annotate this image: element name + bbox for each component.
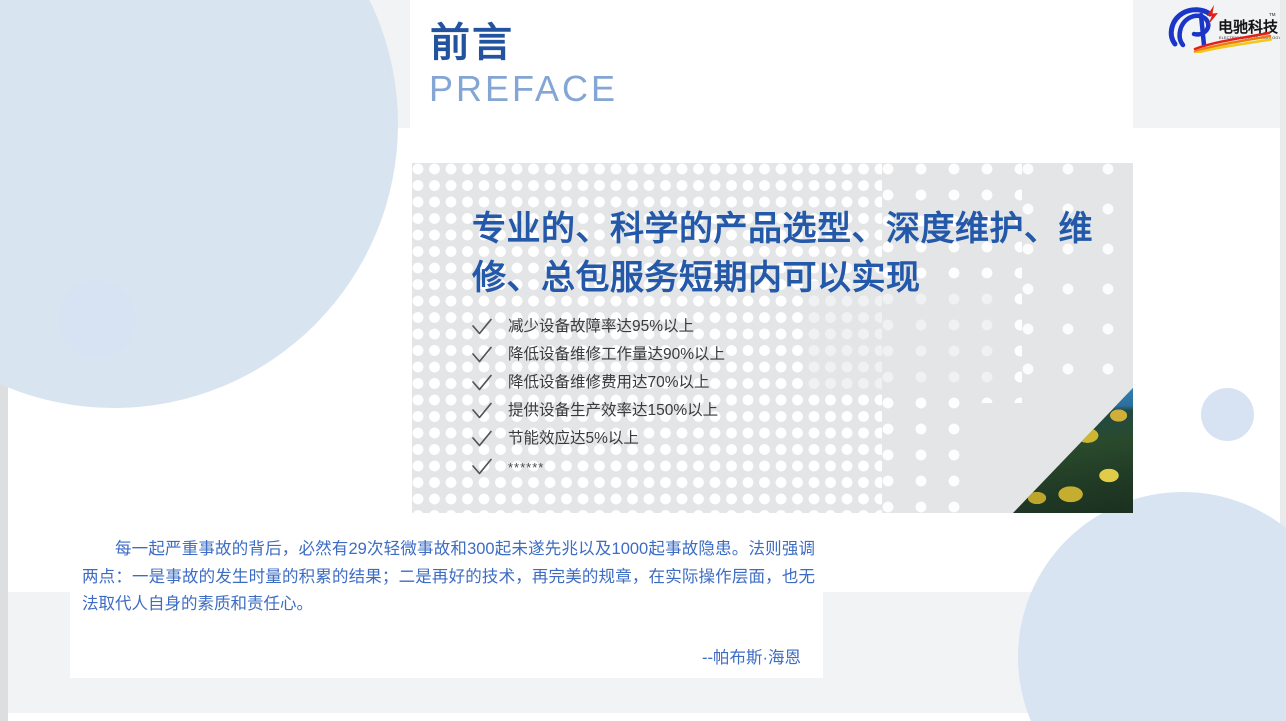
quote-attribution: --帕布斯·海恩 [702, 644, 801, 668]
check-icon [470, 373, 494, 393]
quote-box: 每一起严重事故的背后，必然有29次轻微事故和300起未遂先兆以及1000起事故隐… [70, 521, 823, 678]
headline-text: 专业的、科学的产品选型、深度维护、维修、总包服务短期内可以实现 [472, 205, 1133, 304]
content-panel: 专业的、科学的产品选型、深度维护、维修、总包服务短期内可以实现 减少设备故障率达… [412, 163, 1133, 513]
list-item-label: 降低设备维修工作量达90%以上 [508, 347, 725, 363]
list-item-label: 降低设备维修费用达70%以上 [508, 375, 710, 391]
list-item-label: 提供设备生产效率达150%以上 [508, 403, 718, 419]
quote-text: 每一起严重事故的背后，必然有29次轻微事故和300起未遂先兆以及1000起事故隐… [82, 536, 815, 619]
page-title-cn: 前言 [430, 22, 514, 64]
list-item: 提供设备生产效率达150%以上 [470, 397, 900, 425]
list-item: 减少设备故障率达95%以上 [470, 313, 900, 341]
check-icon [470, 345, 494, 365]
check-icon [470, 401, 494, 421]
list-item: 降低设备维修费用达70%以上 [470, 369, 900, 397]
decorative-circle-small-left [58, 280, 136, 358]
benefits-list: 减少设备故障率达95%以上 降低设备维修工作量达90%以上 降低设备维修费用达7… [470, 313, 900, 481]
decorative-circle-bottom-right [1018, 492, 1286, 721]
list-item-label: ****** [508, 461, 544, 474]
header-panel: 前言 PREFACE [410, 0, 1133, 128]
slide-canvas: 前言 PREFACE 专业的、科学的产品选型、深度维护、维修、总包服务短期内可以… [0, 0, 1286, 721]
page-title-en: PREFACE [429, 70, 618, 108]
list-item-label: 减少设备故障率达95%以上 [508, 319, 694, 335]
list-item: 降低设备维修工作量达90%以上 [470, 341, 900, 369]
check-icon [470, 457, 494, 477]
list-item: ****** [470, 453, 900, 481]
decorative-circle-small-right [1201, 388, 1254, 441]
logo-trademark: TM [1269, 12, 1276, 17]
list-item: 节能效应达5%以上 [470, 425, 900, 453]
check-icon [470, 317, 494, 337]
list-item-label: 节能效应达5%以上 [508, 431, 639, 447]
decorative-circle-top-left [0, 0, 398, 408]
check-icon [470, 429, 494, 449]
company-logo: 电驰科技 ELECTRICAL CHI TECHNOLOGY TM [1166, 3, 1280, 53]
